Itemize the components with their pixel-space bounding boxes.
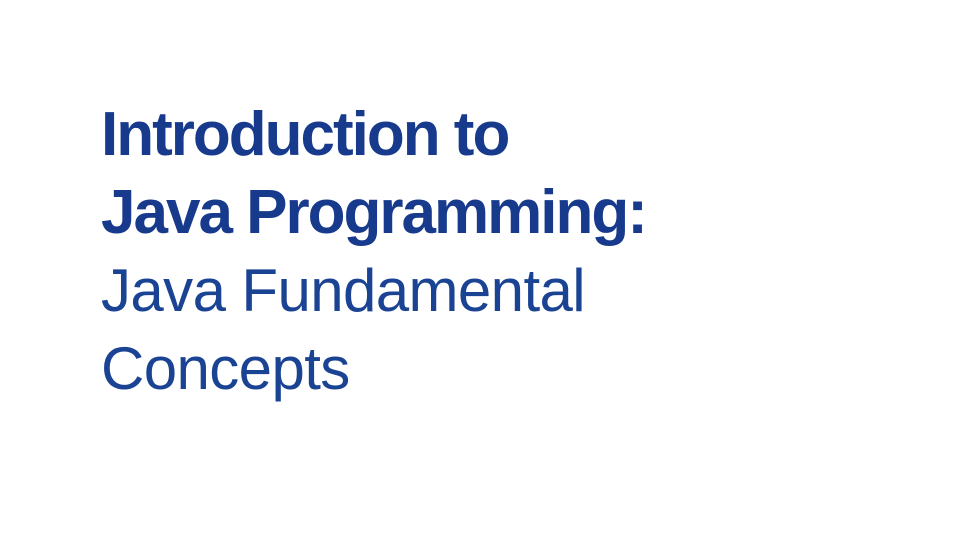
title-subheading-line-1: Java Fundamental bbox=[101, 252, 901, 330]
title-heading-line-1: Introduction to bbox=[101, 96, 901, 174]
title-block: Introduction to Java Programming: Java F… bbox=[101, 96, 901, 408]
title-heading-line-2: Java Programming: bbox=[101, 174, 901, 252]
title-slide: Introduction to Java Programming: Java F… bbox=[0, 0, 960, 540]
title-subheading-line-2: Concepts bbox=[101, 330, 901, 408]
